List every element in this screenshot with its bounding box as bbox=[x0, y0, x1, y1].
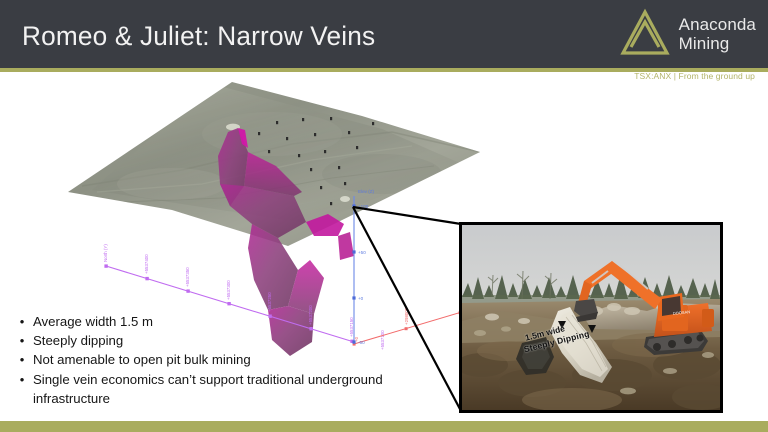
header-bar: Romeo & Juliet: Narrow Veins Anaconda Mi… bbox=[0, 0, 768, 68]
svg-text:+100: +100 bbox=[358, 204, 369, 209]
brand-name-line2: Mining bbox=[679, 34, 756, 53]
bullet-marker: • bbox=[18, 312, 26, 331]
bullet-marker: • bbox=[18, 350, 26, 369]
list-item: • Steeply dipping bbox=[18, 331, 418, 350]
elevation-axis-label: Elev (Z) bbox=[358, 189, 375, 194]
bullet-marker: • bbox=[18, 331, 26, 350]
svg-text:+5537400: +5537400 bbox=[144, 254, 149, 274]
svg-text:+5537300: +5537300 bbox=[226, 280, 231, 300]
bullet-text: Steeply dipping bbox=[33, 331, 418, 350]
bullet-text: Single vein economics can’t support trad… bbox=[33, 370, 418, 408]
brand-logo: Anaconda Mining bbox=[619, 6, 756, 62]
bullet-list: • Average width 1.5 m • Steeply dipping … bbox=[18, 312, 418, 408]
svg-text:+5537250: +5537250 bbox=[267, 292, 272, 312]
brand-wordmark: Anaconda Mining bbox=[679, 15, 756, 53]
triangle-logo-icon bbox=[619, 8, 671, 60]
list-item: • Single vein economics can’t support tr… bbox=[18, 370, 418, 408]
north-axis-label: North (Y) bbox=[103, 244, 108, 262]
svg-text:+5537350: +5537350 bbox=[185, 267, 190, 287]
trench-photo: DOOSAN 1.5m wide Steeply Dippi bbox=[459, 222, 723, 413]
page-title: Romeo & Juliet: Narrow Veins bbox=[22, 20, 375, 52]
svg-text:+0: +0 bbox=[358, 296, 364, 301]
svg-text:+50: +50 bbox=[358, 250, 366, 255]
slide: Romeo & Juliet: Narrow Veins Anaconda Mi… bbox=[0, 0, 768, 432]
list-item: • Average width 1.5 m bbox=[18, 312, 418, 331]
bullet-marker: • bbox=[18, 370, 26, 389]
brand-tagline: TSX:ANX | From the ground up bbox=[634, 71, 755, 81]
footer-accent-bar bbox=[0, 421, 768, 432]
photo-annotation-arrows bbox=[462, 225, 720, 410]
bullet-text: Not amenable to open pit bulk mining bbox=[33, 350, 418, 369]
bullet-text: Average width 1.5 m bbox=[33, 312, 418, 331]
list-item: • Not amenable to open pit bulk mining bbox=[18, 350, 418, 369]
brand-name-line1: Anaconda bbox=[679, 15, 756, 34]
